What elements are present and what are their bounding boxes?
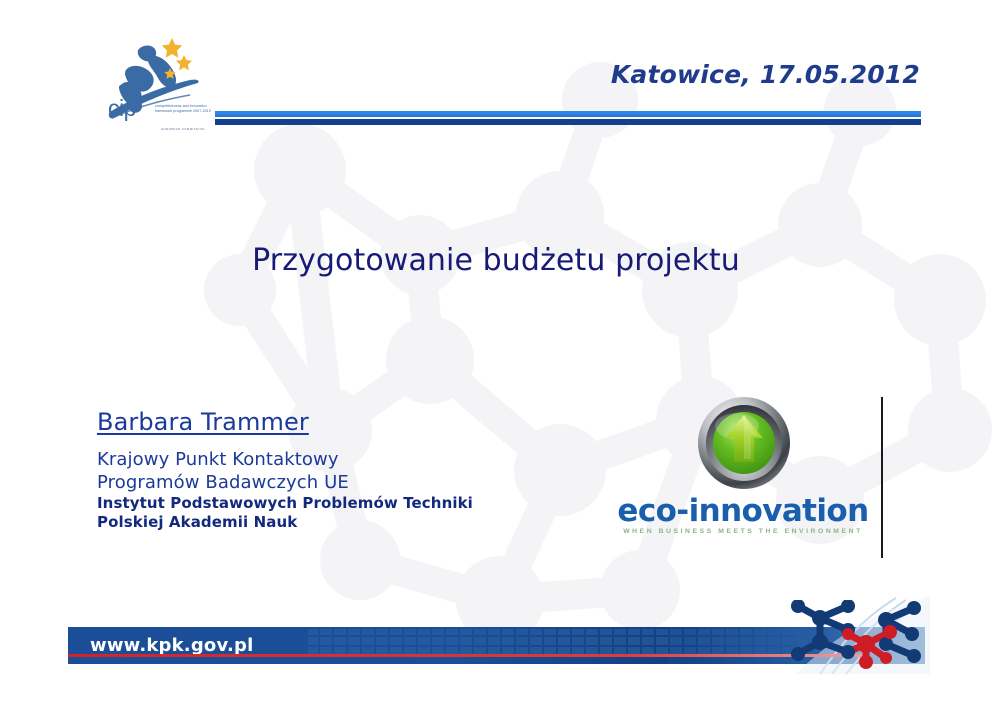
eco-innovation-wordmark: eco-innovation	[612, 496, 874, 527]
cip-programme-text: competitiveness and innovation framework…	[155, 104, 215, 113]
presenter-institute-line-1: Instytut Podstawowych Problemów Techniki	[97, 494, 473, 513]
svg-text:cip: cip	[108, 95, 136, 121]
divider-line-dark	[215, 119, 921, 125]
eco-logo-divider	[881, 397, 883, 558]
presenter-institute-line-2: Polskiej Akademii Nauk	[97, 513, 473, 532]
footer-url-text[interactable]: www.kpk.gov.pl	[90, 635, 253, 656]
green-up-arrow-badge-icon	[697, 396, 791, 490]
presenter-block: Barbara Trammer Krajowy Punkt Kontaktowy…	[97, 408, 473, 532]
presenter-name: Barbara Trammer	[97, 408, 473, 448]
presenter-name-text: Barbara Trammer	[97, 408, 309, 436]
kpk-molecule-logo	[790, 600, 930, 672]
page-title: Przygotowanie budżetu projektu	[0, 243, 992, 278]
eco-innovation-logo: eco-innovation WHEN BUSINESS MEETS THE E…	[612, 396, 874, 558]
eco-innovation-tagline: WHEN BUSINESS MEETS THE ENVIRONMENT	[612, 528, 874, 535]
presentation-slide: cip competitiveness and innovation frame…	[0, 0, 992, 701]
cip-bottom-text: EUROPEAN COMMISSION	[152, 128, 214, 131]
header-divider	[215, 111, 921, 125]
presenter-affiliation-line-2: Programów Badawczych UE	[97, 471, 473, 494]
cip-logo: cip competitiveness and innovation frame…	[104, 28, 216, 146]
footer-red-accent-line	[68, 654, 868, 657]
slide-date: Katowice, 17.05.2012	[611, 60, 920, 89]
presenter-affiliation-line-1: Krajowy Punkt Kontaktowy	[97, 448, 473, 471]
